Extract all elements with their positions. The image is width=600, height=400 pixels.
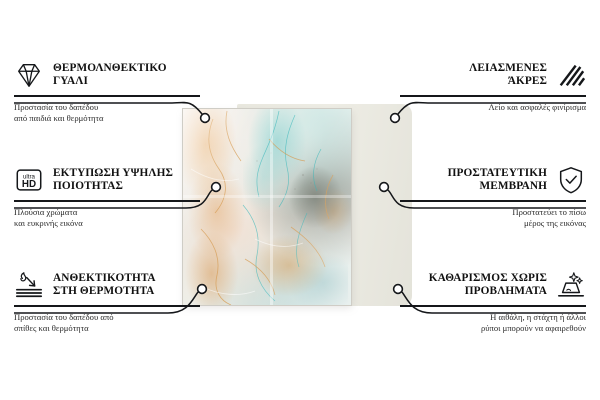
feature-heading: ΑΝΘΕΚΤΙΚΟΤΗΤΑ ΣΤΗ ΘΕΡΜΟΤΗΤΑ — [14, 268, 200, 302]
feature-heading: ΛΕΙΑΣΜΕΝΕΣ ΆΚΡΕΣ — [400, 58, 586, 92]
feature-heading: ΚΑΘΑΡΙΣΜΟΣ ΧΩΡΙΣ ΠΡΟΒΛΗΜΑΤΑ — [400, 268, 586, 302]
infographic-canvas: ΘΕΡΜΟΛΝΘΕΚΤΙΚΟ ΓΥΑΛΙ Προστασία του δαπέδ… — [0, 0, 600, 400]
feature-description: Η αιθάλη, η στάχτη ή άλλοι ρύποι μπορούν… — [400, 312, 586, 334]
feature-description: Λείο και ασφαλές φινίρισμα — [400, 102, 586, 113]
feature-title: ΕΚΤΥΠΩΣΗ ΥΨΗΛΗΣ ΠΟΙΟΤΗΤΑΣ — [53, 167, 173, 194]
feature-heading: ultra HD ΕΚΤΥΠΩΣΗ ΥΨΗΛΗΣ ΠΟΙΟΤΗΤΑΣ — [14, 163, 200, 197]
feature-underline — [400, 305, 586, 307]
feature-description: Προστασία του δαπέδου από σπίθες και θερ… — [14, 312, 200, 334]
window-reflection-vertical — [270, 109, 273, 305]
marble-artwork — [183, 109, 351, 305]
feature-heading: ΠΡΟΣΤΑΤΕΥΤΙΚΗ ΜΕΜΒΡΑΝΗ — [400, 163, 586, 197]
feature-heat-resistant-glass: ΘΕΡΜΟΛΝΘΕΚΤΙΚΟ ΓΥΑΛΙ Προστασία του δαπέδ… — [14, 58, 200, 124]
feature-title: ΠΡΟΣΤΑΤΕΥΤΙΚΗ ΜΕΜΒΡΑΝΗ — [448, 167, 547, 194]
feature-title: ΛΕΙΑΣΜΕΝΕΣ ΆΚΡΕΣ — [469, 62, 547, 89]
feature-underline — [14, 200, 200, 202]
ink-veins — [183, 109, 351, 305]
window-reflection-horizontal — [183, 195, 351, 198]
feature-protective-membrane: ΠΡΟΣΤΑΤΕΥΤΙΚΗ ΜΕΜΒΡΑΝΗ Προστατεύει το πί… — [400, 163, 586, 229]
shield-check-icon — [556, 165, 586, 195]
feature-title: ΑΝΘΕΚΤΙΚΟΤΗΤΑ ΣΤΗ ΘΕΡΜΟΤΗΤΑ — [53, 272, 156, 299]
feature-description: Προστασία του δαπέδου από παιδιά και θερ… — [14, 102, 200, 124]
feature-polished-edges: ΛΕΙΑΣΜΕΝΕΣ ΆΚΡΕΣ Λείο και ασφαλές φινίρι… — [400, 58, 586, 113]
ultra-hd-badge-icon: ultra HD — [14, 165, 44, 195]
feature-easy-cleaning: ΚΑΘΑΡΙΣΜΟΣ ΧΩΡΙΣ ΠΡΟΒΛΗΜΑΤΑ Η αιθάλη, η … — [400, 268, 586, 334]
heat-resistance-icon — [14, 270, 44, 300]
polished-edges-icon — [556, 60, 586, 90]
feature-underline — [400, 95, 586, 97]
diamond-icon — [14, 60, 44, 90]
easy-clean-sparkle-icon — [556, 270, 586, 300]
feature-title: ΘΕΡΜΟΛΝΘΕΚΤΙΚΟ ΓΥΑΛΙ — [53, 62, 167, 89]
feature-underline — [14, 305, 200, 307]
feature-underline — [14, 95, 200, 97]
product-glass-splashback — [182, 108, 352, 306]
feature-heat-durability: ΑΝΘΕΚΤΙΚΟΤΗΤΑ ΣΤΗ ΘΕΡΜΟΤΗΤΑ Προστασία το… — [14, 268, 200, 334]
feature-title: ΚΑΘΑΡΙΣΜΟΣ ΧΩΡΙΣ ΠΡΟΒΛΗΜΑΤΑ — [429, 272, 547, 299]
feature-underline — [400, 200, 586, 202]
feature-description: Πλούσια χρώματα και ευκρινής εικόνα — [14, 207, 200, 229]
feature-description: Προστατεύει το πίσω μέρος της εικόνας — [400, 207, 586, 229]
feature-high-quality-print: ultra HD ΕΚΤΥΠΩΣΗ ΥΨΗΛΗΣ ΠΟΙΟΤΗΤΑΣ Πλούσ… — [14, 163, 200, 229]
svg-text:HD: HD — [22, 179, 36, 190]
feature-heading: ΘΕΡΜΟΛΝΘΕΚΤΙΚΟ ΓΥΑΛΙ — [14, 58, 200, 92]
